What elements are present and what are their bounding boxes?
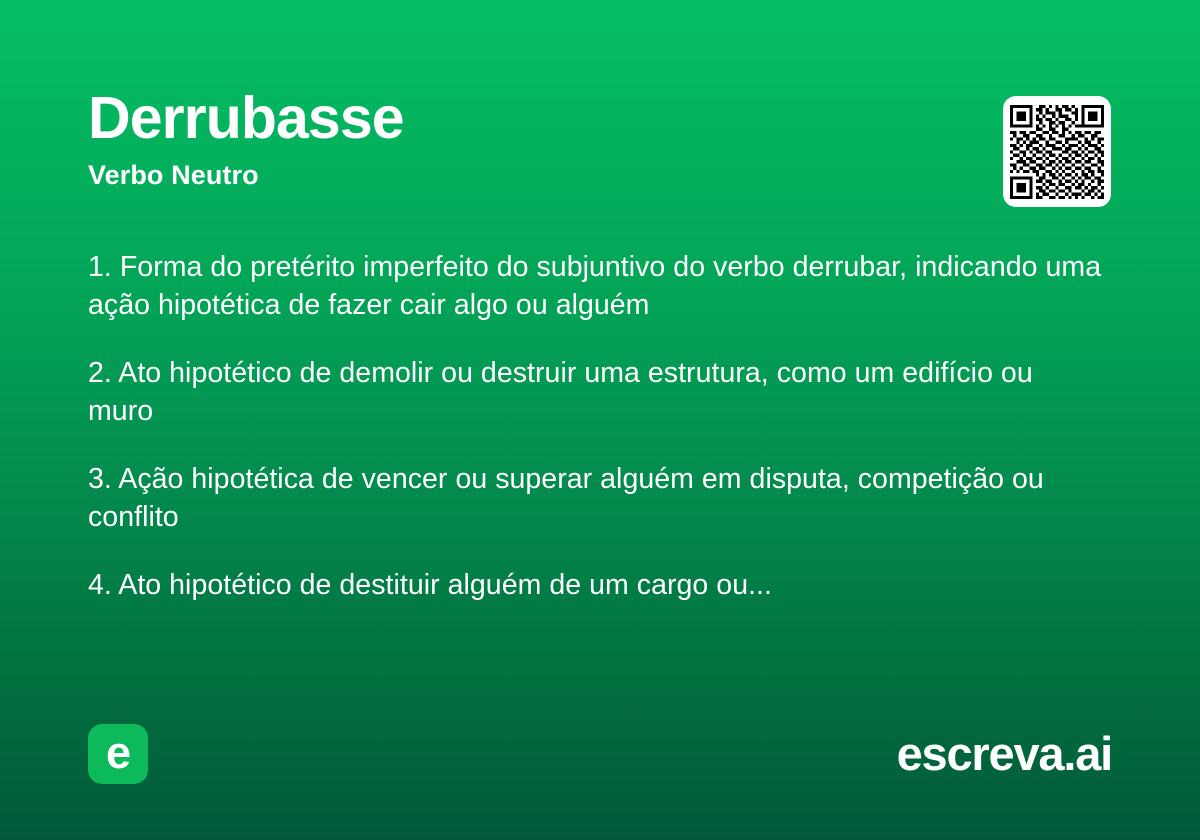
- word-class-subtitle: Verbo Neutro: [88, 150, 1112, 192]
- page-title: Derrubasse: [88, 86, 1112, 150]
- definition-item: 2. Ato hipotético de demolir ou destruir…: [88, 354, 1100, 430]
- definition-list: 1. Forma do pretérito imperfeito do subj…: [88, 248, 1118, 604]
- definition-item: 3. Ação hipotética de vencer ou superar …: [88, 460, 1048, 536]
- definition-item: 4. Ato hipotético de destituir alguém de…: [88, 566, 988, 604]
- qr-code-container[interactable]: [1003, 96, 1111, 207]
- definition-item: 1. Forma do pretérito imperfeito do subj…: [88, 248, 1118, 324]
- brand-logo-icon: e: [88, 724, 148, 784]
- brand-wordmark: escreva.ai: [897, 728, 1112, 780]
- card-footer: e escreva.ai: [88, 722, 1112, 786]
- definition-card: Derrubasse Verbo Neutro 1. Forma do pret…: [0, 0, 1200, 840]
- brand-logo-letter: e: [106, 730, 130, 775]
- qr-code-icon: [1010, 105, 1104, 199]
- card-header: Derrubasse Verbo Neutro: [88, 86, 1112, 192]
